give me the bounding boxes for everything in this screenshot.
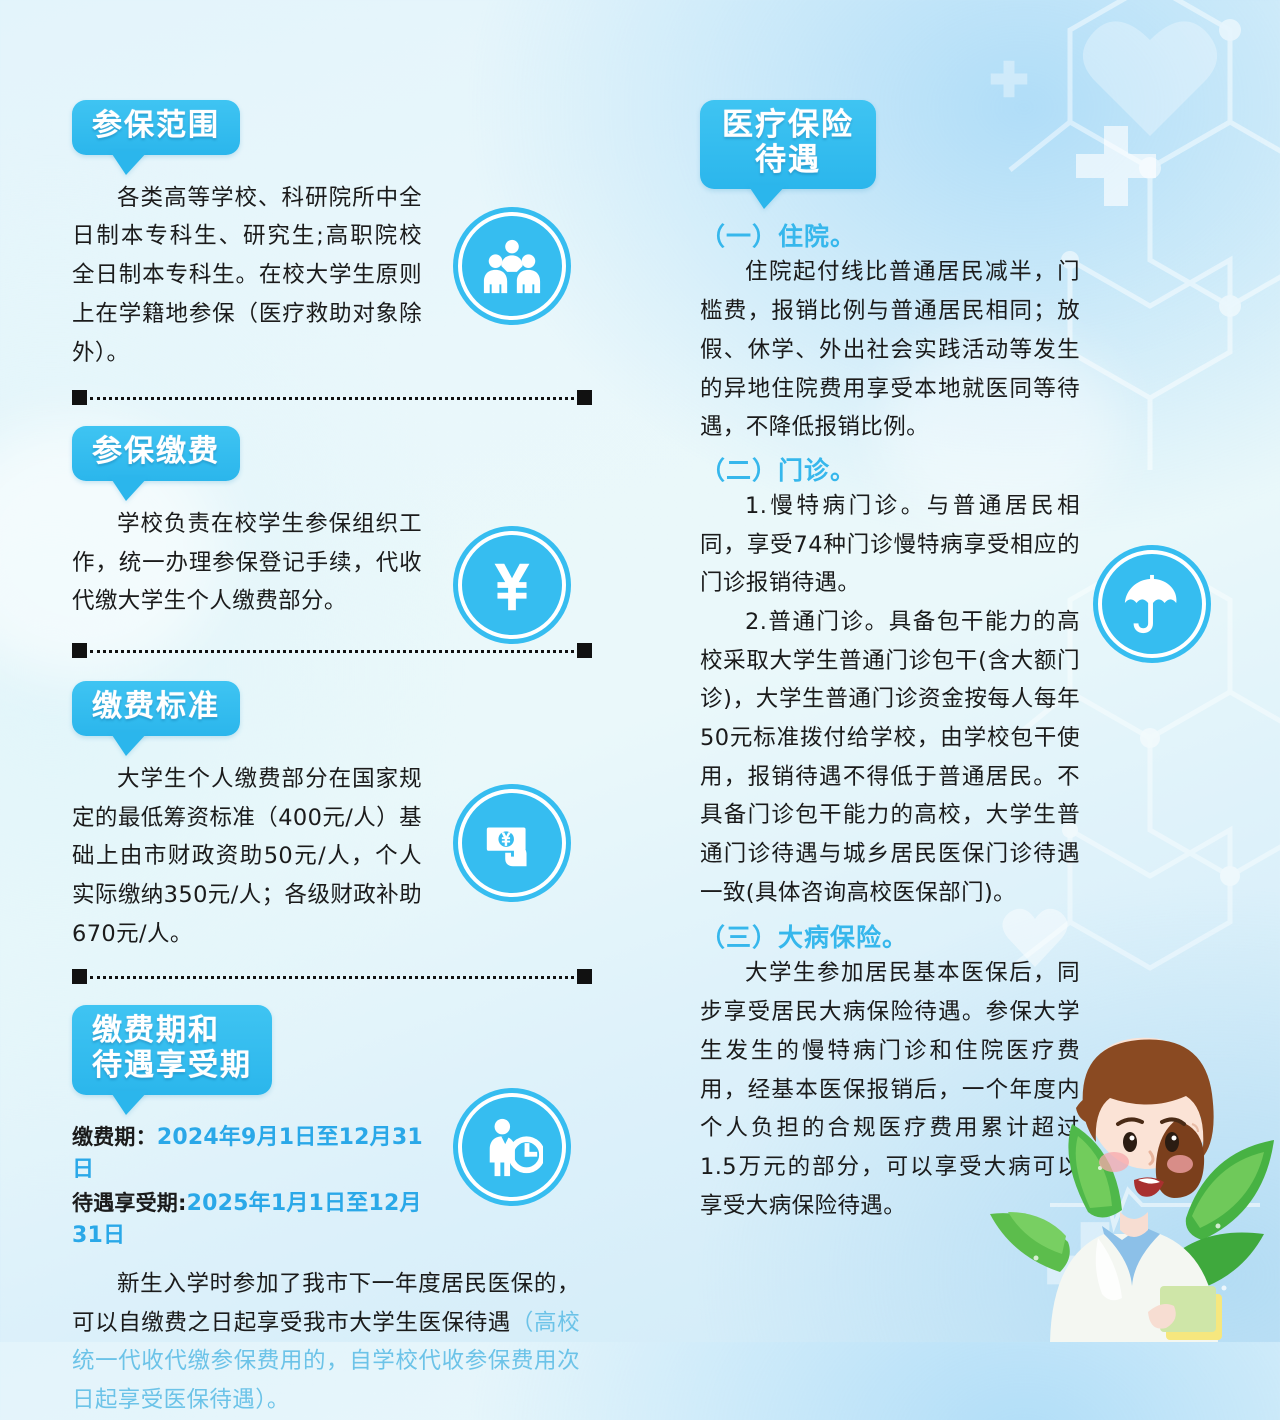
section-body: 学校负责在校学生参保组织工作，统一办理参保登记手续，代收代缴大学生个人缴费部分。 xyxy=(72,505,422,621)
body-outpatient-2: 2.普通门诊。具备包干能力的高校采取大学生普通门诊包干(含大额门诊)，大学生普通… xyxy=(700,603,1080,913)
person-clock-icon xyxy=(458,1093,566,1201)
tab-payment-standard: 缴费标准 xyxy=(72,681,240,736)
divider-cap-left xyxy=(72,643,87,658)
tab-label: 缴费期和 待遇享受期 xyxy=(92,1014,252,1084)
body-inpatient: 住院起付线比普通居民减半，门槛费，报销比例与普通居民相同；放假、休学、外出社会实… xyxy=(700,253,1080,446)
tab-pointer xyxy=(748,185,786,209)
note-plain: 新生入学时参加了我市下一年度居民医保的，可以自缴费之日起享受我市大学生医保待遇 xyxy=(72,1271,580,1336)
heading-critical-illness: （三）大病保险。 xyxy=(700,918,1080,954)
payment-period-label: 缴费期： xyxy=(72,1125,157,1149)
payment-period-row: 缴费期：2024年9月1日至12月31日 xyxy=(72,1119,442,1183)
heading-outpatient: （二）门诊。 xyxy=(700,451,1080,487)
divider-1 xyxy=(72,382,592,416)
divider-line xyxy=(90,976,574,979)
divider-2 xyxy=(72,635,592,669)
section-note: 新生入学时参加了我市下一年度居民医保的，可以自缴费之日起享受我市大学生医保待遇（… xyxy=(72,1265,580,1420)
cash-payment-icon xyxy=(458,789,566,897)
tab-pointer xyxy=(110,1091,148,1115)
left-column: 参保范围 各类高等学校、科研院所中全日制本专科生、研究生;高职院校全日制本专科生… xyxy=(72,100,592,1420)
section-payment-standard: 缴费标准 大学生个人缴费部分在国家规定的最低筹资标准（400元/人）基础上由市财… xyxy=(72,681,592,953)
divider-line xyxy=(90,397,574,400)
divider-cap-right xyxy=(577,969,592,984)
tab-scope: 参保范围 xyxy=(72,100,240,155)
tab-enrollment-payment: 参保缴费 xyxy=(72,426,240,481)
divider-cap-left xyxy=(72,390,87,405)
divider-line xyxy=(90,650,574,653)
cross-icon-bg-2 xyxy=(988,58,1030,100)
family-group-icon xyxy=(458,212,566,320)
tab-period: 缴费期和 待遇享受期 xyxy=(72,1005,272,1095)
section-scope: 参保范围 各类高等学校、科研院所中全日制本专科生、研究生;高职院校全日制本专科生… xyxy=(72,100,592,372)
heading-inpatient: （一）住院。 xyxy=(700,217,1080,253)
body-outpatient-1: 1.慢特病门诊。与普通居民相同，享受74种门诊慢特病享受相应的门诊报销待遇。 xyxy=(700,487,1080,603)
umbrella-icon xyxy=(1098,550,1206,658)
divider-cap-right xyxy=(577,643,592,658)
section-enrollment-payment: 参保缴费 学校负责在校学生参保组织工作，统一办理参保登记手续，代收代缴大学生个人… xyxy=(72,426,592,621)
divider-cap-left xyxy=(72,969,87,984)
tab-label: 缴费标准 xyxy=(92,690,220,725)
tab-medical-benefits: 医疗保险 待遇 xyxy=(700,100,876,189)
divider-cap-right xyxy=(577,390,592,405)
cross-icon-bg-1 xyxy=(1070,120,1162,212)
tab-pointer xyxy=(110,732,148,756)
yuan-coin-icon xyxy=(458,531,566,639)
doctor-illustration xyxy=(980,1012,1280,1342)
benefit-period-row: 待遇享受期:2025年1月1日至12月31日 xyxy=(72,1185,442,1249)
tab-label: 医疗保险 待遇 xyxy=(722,108,854,177)
note-tail: 。 xyxy=(267,1387,290,1413)
benefit-period-label: 待遇享受期: xyxy=(72,1191,187,1215)
tab-label: 参保范围 xyxy=(92,109,220,144)
divider-3 xyxy=(72,961,592,995)
section-period: 缴费期和 待遇享受期 缴费期：2024年9月1日至12月31日 待遇享受期:20… xyxy=(72,1005,592,1419)
section-body: 各类高等学校、科研院所中全日制本专科生、研究生;高职院校全日制本专科生。在校大学… xyxy=(72,179,422,372)
tab-pointer xyxy=(110,477,148,501)
tab-label: 参保缴费 xyxy=(92,435,220,470)
tab-pointer xyxy=(110,151,148,175)
section-body: 大学生个人缴费部分在国家规定的最低筹资标准（400元/人）基础上由市财政资助50… xyxy=(72,760,422,953)
